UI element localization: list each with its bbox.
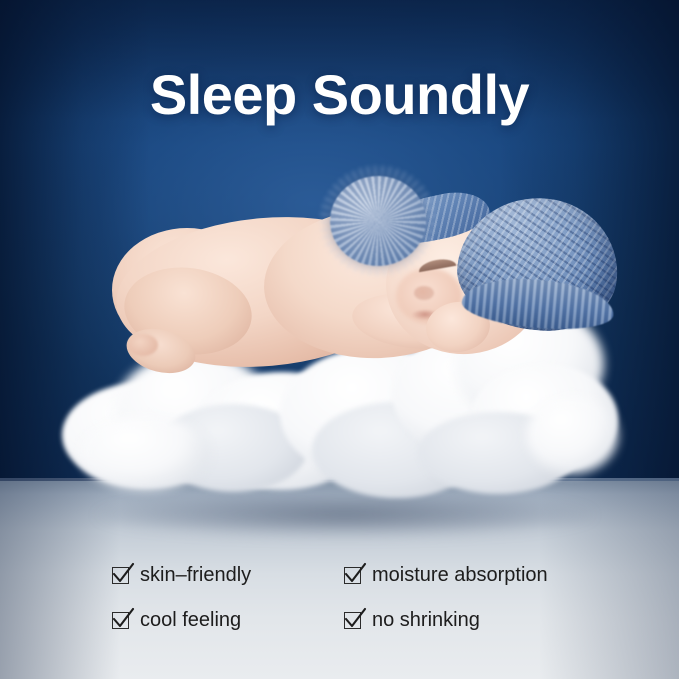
feature-label: moisture absorption: [372, 564, 548, 587]
checkmark-icon: [344, 612, 361, 629]
feature-item: no shrinking: [344, 609, 582, 632]
baby-toes: [128, 334, 158, 356]
checkmark-icon: [344, 567, 361, 584]
baby-nose: [414, 286, 434, 300]
sleeping-baby: [96, 164, 596, 404]
knit-hat: [440, 192, 630, 338]
checkmark-icon: [112, 567, 129, 584]
floor-left-shading: [0, 478, 120, 679]
page-title: Sleep Soundly: [0, 62, 679, 127]
feature-label: cool feeling: [140, 609, 241, 632]
feature-label: skin–friendly: [140, 564, 251, 587]
feature-list: skin–friendly moisture absorption cool f…: [112, 564, 582, 632]
hat-pompom: [330, 176, 426, 266]
cloud-cast-shadow: [95, 492, 595, 538]
feature-label: no shrinking: [372, 609, 480, 632]
product-banner: Sleep Soundly: [0, 0, 679, 679]
feature-item: cool feeling: [112, 609, 344, 632]
checkmark-icon: [112, 612, 129, 629]
feature-item: skin–friendly: [112, 564, 344, 587]
feature-item: moisture absorption: [344, 564, 582, 587]
